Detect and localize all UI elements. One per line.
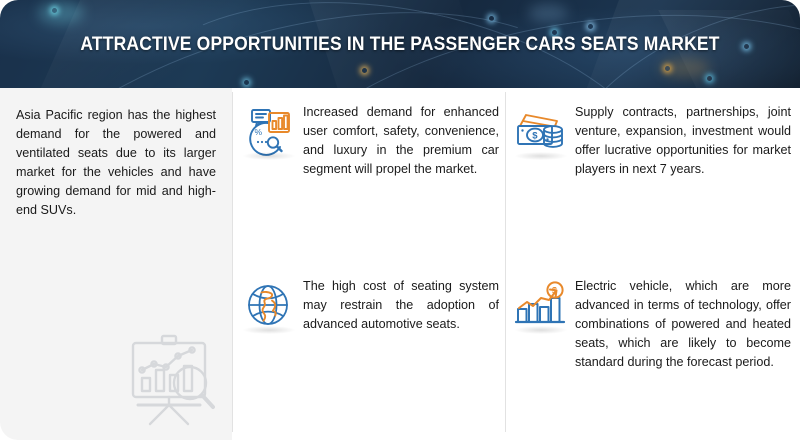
insight-text: Electric vehicle, which are more advance…: [575, 276, 791, 372]
banner-glow: [38, 2, 84, 24]
icon-shadow: [515, 152, 567, 160]
growth-bar-chart-dollar-icon: $: [513, 278, 567, 332]
money-cash-coins-icon: $: [513, 104, 567, 158]
banner-glow: [528, 4, 568, 22]
banner-glow: [660, 58, 710, 78]
insight-card-supply-contracts: $ Supply contracts, partnerships, joint …: [513, 102, 791, 179]
chart-board-magnifier-icon: [114, 328, 226, 432]
svg-text:%: %: [255, 127, 263, 137]
banner-spark: [52, 8, 57, 13]
icon-shadow: [243, 326, 295, 334]
banner-spark: [665, 66, 670, 71]
region-description: Asia Pacific region has the highest dema…: [16, 106, 216, 220]
column-divider: [232, 92, 233, 432]
pie-chart-analysis-icon: %: [241, 104, 295, 158]
insight-text: The high cost of seating system may rest…: [303, 276, 499, 334]
region-panel: Asia Pacific region has the highest dema…: [0, 88, 232, 440]
infographic-root: ATTRACTIVE OPPORTUNITIES IN THE PASSENGE…: [0, 0, 800, 440]
insight-card-electric-vehicle: $ Electric vehicle, which are more advan…: [513, 276, 791, 372]
banner-spark: [489, 16, 494, 21]
svg-text:$: $: [532, 131, 538, 142]
column-divider: [505, 92, 506, 432]
insight-text: Increased demand for enhanced user comfo…: [303, 102, 499, 179]
banner-spark: [707, 76, 712, 81]
icon-shadow: [243, 152, 295, 160]
banner-spark: [588, 24, 593, 29]
icon-shadow: [515, 326, 567, 334]
banner-title: ATTRACTIVE OPPORTUNITIES IN THE PASSENGE…: [32, 34, 768, 56]
insight-card-high-cost-restraint: The high cost of seating system may rest…: [241, 276, 499, 334]
banner-spark: [244, 80, 249, 85]
content-area: Asia Pacific region has the highest dema…: [0, 88, 800, 440]
insight-text: Supply contracts, partnerships, joint ve…: [575, 102, 791, 179]
header-banner: ATTRACTIVE OPPORTUNITIES IN THE PASSENGE…: [0, 0, 800, 88]
insight-card-increased-demand: % Incre: [241, 102, 499, 179]
svg-text:$: $: [552, 286, 557, 296]
globe-icon: [241, 278, 295, 332]
banner-spark: [362, 68, 367, 73]
